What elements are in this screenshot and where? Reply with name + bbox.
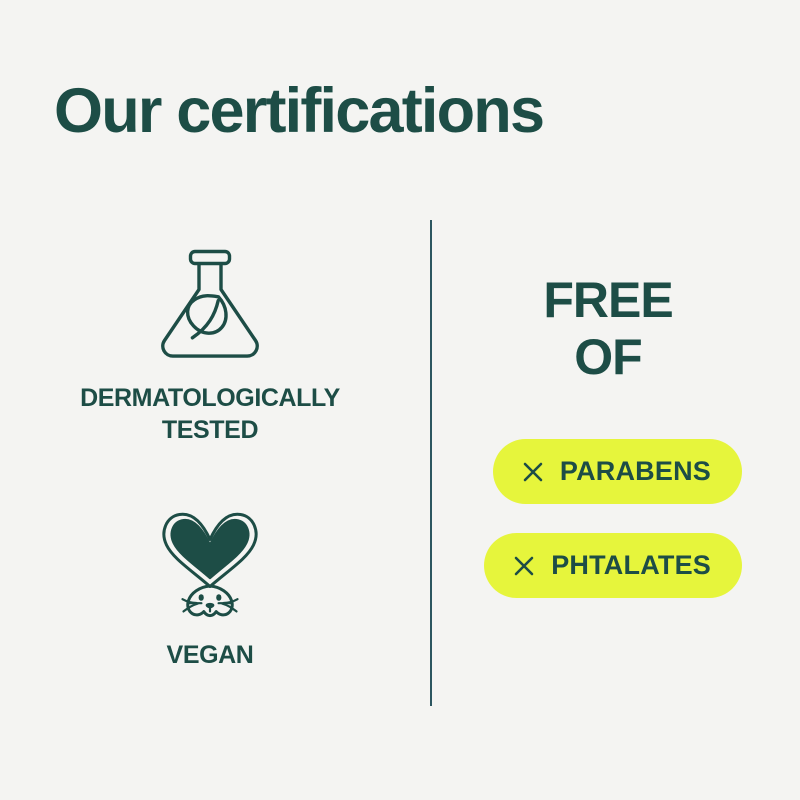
flask-leaf-icon	[154, 245, 266, 366]
cross-icon	[522, 461, 544, 483]
free-of-heading: FREE OF	[470, 272, 760, 385]
certification-item-vegan: VEGAN	[151, 508, 269, 671]
free-of-heading-line-1: FREE	[470, 272, 746, 329]
cross-icon	[513, 555, 535, 577]
certification-label-line-2: TESTED	[162, 416, 258, 444]
certification-item-dermatologically-tested: DERMATOLOGICALLY TESTED	[80, 245, 340, 446]
certification-label-dermatologically-tested: DERMATOLOGICALLY TESTED	[80, 382, 340, 446]
free-of-column: FREE OF PARABENS PHTALATES	[470, 272, 760, 598]
free-of-pill-parabens: PARABENS	[493, 439, 742, 504]
bunny-heart-ears-icon	[151, 508, 269, 625]
free-of-pill-phtalates: PHTALATES	[484, 533, 742, 598]
certification-label-vegan: VEGAN	[167, 639, 254, 671]
free-of-pill-label: PHTALATES	[551, 552, 711, 579]
free-of-pill-label: PARABENS	[560, 458, 711, 485]
certifications-column: DERMATOLOGICALLY TESTED	[40, 245, 380, 671]
free-of-list: PARABENS PHTALATES	[470, 439, 760, 598]
vertical-divider	[430, 220, 432, 706]
page-title: Our certifications	[54, 78, 543, 144]
certifications-page: Our certifications DERMATOLOGICALLY	[0, 0, 800, 800]
certification-label-line-1: DERMATOLOGICALLY	[80, 384, 340, 412]
free-of-heading-line-2: OF	[470, 329, 746, 386]
